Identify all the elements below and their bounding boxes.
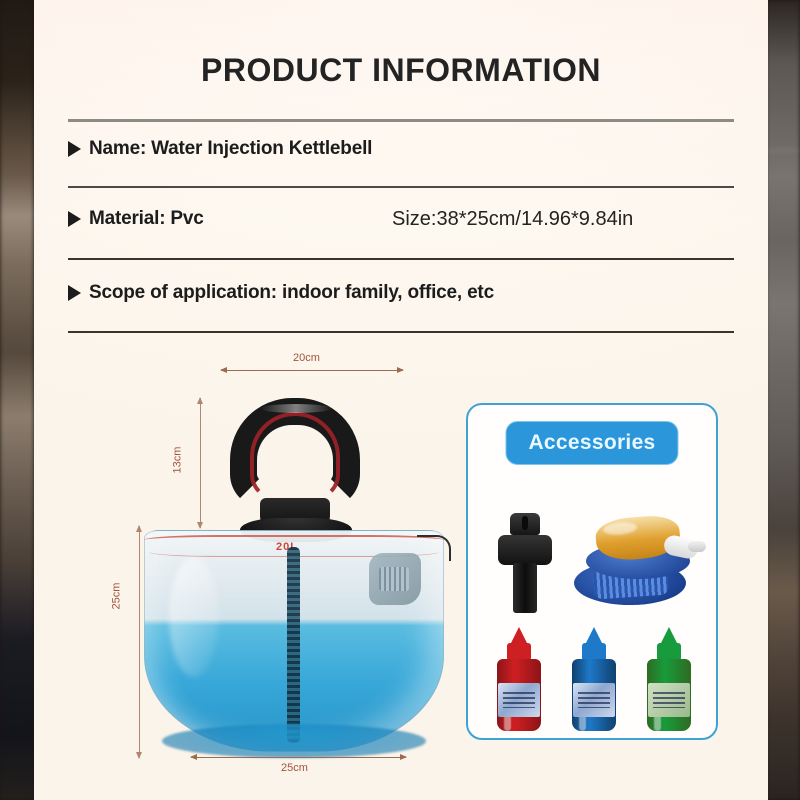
product-info-card: PRODUCT INFORMATION Name: Water Injectio… — [34, 0, 768, 800]
valve-cap — [510, 513, 540, 535]
product-diagram: 20cm 13cm 25cm 20L — [34, 350, 768, 800]
handle-highlight — [260, 404, 332, 413]
dye-bottle-group — [482, 623, 706, 731]
dimension-line-handle-height — [200, 398, 201, 528]
spec-row-scope: Scope of application: indoor family, off… — [68, 282, 494, 304]
dye-bottle-green — [645, 627, 693, 731]
divider-1 — [68, 119, 734, 122]
background-left-strip — [0, 0, 34, 800]
dye-bottle-blue — [570, 627, 618, 731]
spec-row-material: Material: Pvc — [68, 208, 204, 230]
triangle-right-icon — [68, 211, 81, 227]
dimension-line-base-width — [191, 757, 406, 758]
body-cord — [417, 535, 451, 561]
kettlebell-water-body: 20L — [144, 530, 444, 752]
divider-4 — [68, 331, 734, 333]
triangle-right-icon — [68, 285, 81, 301]
pump-nozzle — [688, 541, 706, 552]
page-title: PRODUCT INFORMATION — [34, 52, 768, 89]
spec-label-name: Name: Water Injection Kettlebell — [89, 138, 372, 160]
bottle-label — [498, 683, 540, 717]
dimension-label-body-height: 25cm — [110, 583, 122, 610]
valve-adapter-icon — [498, 513, 552, 613]
accessories-panel: Accessories — [466, 403, 718, 740]
bottle-label — [573, 683, 615, 717]
triangle-right-icon — [68, 141, 81, 157]
divider-3 — [68, 258, 734, 260]
body-highlight — [169, 557, 219, 677]
valve-stem — [513, 563, 537, 613]
bottle-label — [648, 683, 690, 717]
divider-2 — [68, 186, 734, 188]
kettlebell-handle — [230, 398, 360, 508]
foot-pump-icon — [572, 515, 694, 611]
spec-value-size: Size:38*25cm/14.96*9.84in — [392, 208, 633, 231]
body-vent-patch — [369, 553, 421, 605]
accessories-badge: Accessories — [505, 421, 678, 465]
handle-red-inlay — [250, 412, 340, 500]
dimension-line-body-height — [139, 526, 140, 758]
dimension-line-handle-width — [221, 370, 403, 371]
dimension-label-handle-height: 13cm — [171, 447, 183, 474]
valve-wings — [498, 535, 552, 565]
kettlebell-illustration: 20cm 13cm 25cm 20L — [34, 350, 484, 800]
dye-bottle-red — [495, 627, 543, 731]
spec-label-material: Material: Pvc — [89, 208, 204, 230]
internal-spring-column — [287, 547, 300, 743]
dimension-label-handle-width: 20cm — [293, 352, 320, 364]
background-right-strip — [766, 0, 800, 800]
kettlebell-base-shadow — [162, 724, 426, 758]
spec-row-name: Name: Water Injection Kettlebell — [68, 138, 372, 160]
spec-label-scope: Scope of application: indoor family, off… — [89, 282, 494, 304]
dimension-label-base-width: 25cm — [281, 762, 308, 774]
